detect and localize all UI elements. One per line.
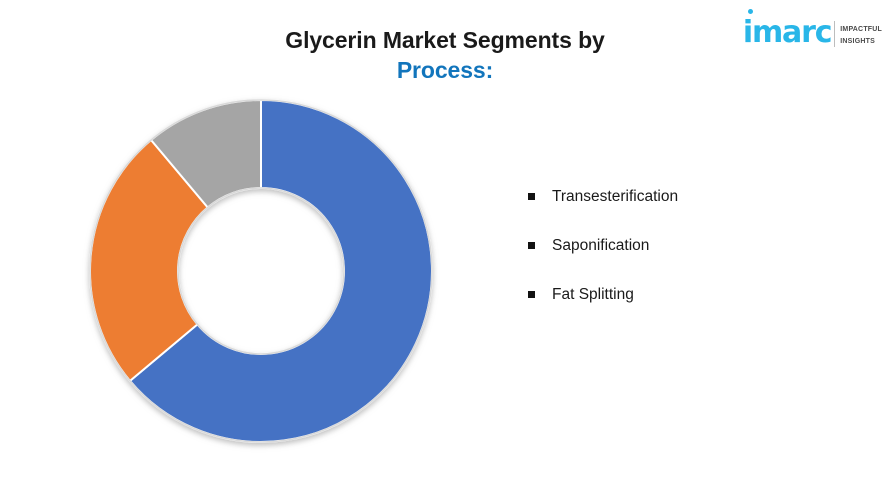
legend-item-label: Transesterification [552,188,678,206]
chart-legend: Transesterification Saponification Fat S… [528,172,828,319]
legend-bullet-icon [528,193,535,200]
logo-divider [834,21,835,47]
page-title: Glycerin Market Segments by Process: [180,26,710,86]
legend-bullet-icon [528,291,535,298]
logo-wordmark-wrapper: imarc [743,18,831,48]
legend-item-saponification[interactable]: Saponification [528,221,828,270]
legend-item-transesterification[interactable]: Transesterification [528,172,828,221]
logo-wordmark: imarc [743,18,831,48]
logo-tagline-line-2: INSIGHTS [840,37,882,48]
legend-item-label: Saponification [552,237,649,255]
legend-item-label: Fat Splitting [552,286,634,304]
donut-chart [0,80,500,480]
legend-item-fat-splitting[interactable]: Fat Splitting [528,270,828,319]
donut-ring [90,100,432,442]
legend-bullet-icon [528,242,535,249]
logo-tagline: IMPACTFUL INSIGHTS [840,25,882,48]
logo-tagline-line-1: IMPACTFUL [840,25,882,36]
page-title-line-1: Glycerin Market Segments by [180,26,710,56]
logo-dot-icon [748,9,753,14]
donut-chart-svg [0,80,500,480]
imarc-logo: imarc IMPACTFUL INSIGHTS [743,8,882,48]
